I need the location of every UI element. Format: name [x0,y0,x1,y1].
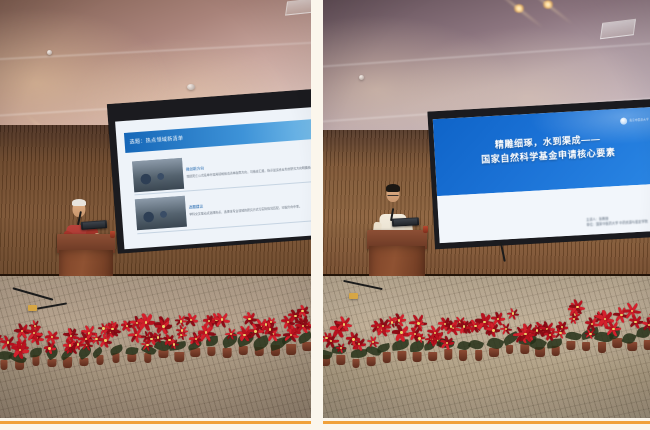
ceiling-light-panel [285,0,311,16]
slide-row: 微创新方向 围绕死亡公式名单中常用领域前沿清单指南方向，可结合汇报，指示最适合业… [132,147,311,192]
logo-mark-icon [620,117,627,124]
speaker-hair [72,199,86,206]
photo-left[interactable]: 选题：热点领域新清单 微创新方向 围绕死亡公式名单中常用领域前沿清单指南方向，可… [0,0,311,418]
slide-thumbnail-image [135,196,187,230]
slide-left: 选题：热点领域新清单 微创新方向 围绕死亡公式名单中常用领域前沿清单指南方向，可… [115,106,311,249]
poinsettia-center [157,336,159,338]
poinsettia-bloom [185,314,198,327]
scene-left: 选题：热点领域新清单 微创新方向 围绕死亡公式名单中常用领域前沿清单指南方向，可… [0,0,311,418]
poinsettia-center [77,343,79,345]
flower-pot [643,340,650,350]
poinsettia-center [505,328,507,330]
poinsettia-bloom [199,325,213,339]
poinsettia-center [126,325,128,327]
photo-right[interactable]: 南京中医药大学 精雕细琢，水到渠成—— 国家自然科学基金申请核心要素 主讲人：张… [323,0,650,418]
scene-right: 南京中医药大学 精雕细琢，水到渠成—— 国家自然科学基金申请核心要素 主讲人：张… [323,0,650,418]
poinsettia-center [111,328,113,330]
poinsettia-band-left [0,268,311,377]
speaker-hair [386,184,400,192]
poinsettia-bloom [203,316,214,327]
ceiling-spotlight [542,0,554,9]
poinsettia-plant [294,297,311,351]
university-logo: 南京中医药大学 [620,115,649,124]
poinsettia-center [205,331,207,333]
slide-title-bar: 选题：热点领域新清单 [124,118,311,153]
poinsettia-bloom [501,324,511,334]
poinsettia-bloom [106,323,119,336]
poinsettia-center [48,347,50,349]
slide-title: 精雕细琢，水到渠成—— 国家自然科学基金申请核心要素 [434,129,650,170]
poinsettia-bloom [296,319,310,333]
laptop[interactable] [392,217,419,226]
poinsettia-bloom [264,323,276,335]
slide-right: 南京中医药大学 精雕细琢，水到渠成—— 国家自然科学基金申请核心要素 主讲人：张… [432,106,650,243]
poinsettia-center [254,330,256,332]
poinsettia-bloom [215,312,229,326]
projection-screen[interactable]: 南京中医药大学 精雕细琢，水到渠成—— 国家自然科学基金申请核心要素 主讲人：张… [427,98,650,249]
poinsettia-band-right [323,263,650,376]
poinsettia-center [398,319,400,321]
water-cup [110,231,115,238]
ceiling-vent-round-icon [187,84,195,90]
poinsettia-center [612,328,614,330]
poinsettia-bloom [153,333,162,342]
slide-title-text: 选题：热点领域新清单 [124,135,183,146]
poinsettia-plant [310,292,311,352]
poinsettia-center [492,329,494,331]
ceiling-spotlight [513,4,525,13]
glasses-icon [388,195,399,197]
photo-left-underline [0,421,311,424]
projection-screen[interactable]: 选题：热点领域新清单 微创新方向 围绕死亡公式名单中常用领域前沿清单指南方向，可… [107,88,311,254]
logo-label: 南京中医药大学 [629,117,649,122]
slide-thumbnail-image [132,158,184,192]
poinsettia-center [382,325,384,327]
poinsettia-center [162,325,164,327]
poinsettia-plant [635,303,650,350]
poinsettia-center [536,329,538,331]
poinsettia-bloom [73,340,83,350]
smoke-detector-icon [47,50,52,55]
poinsettia-center [145,321,147,323]
water-cup [423,226,428,233]
poinsettia-center [173,343,175,345]
poinsettia-center [352,338,354,340]
slide-presenter-meta: 主讲人：张教授 单位：国家中医药大学 中药资源与鉴定学院 [586,214,648,228]
poinsettia-bloom [642,319,650,332]
photo-right-underline [323,421,650,424]
poinsettia-bloom [169,340,178,349]
poinsettia-bloom [376,319,390,333]
slide-title-panel: 南京中医药大学 精雕细琢，水到渠成—— 国家自然科学基金申请核心要素 [432,106,650,196]
poinsettia-center [400,331,402,333]
photo-pair-sheet: 选题：热点领域新清单 微创新方向 围绕死亡公式名单中常用领域前沿清单指南方向，可… [0,0,650,430]
